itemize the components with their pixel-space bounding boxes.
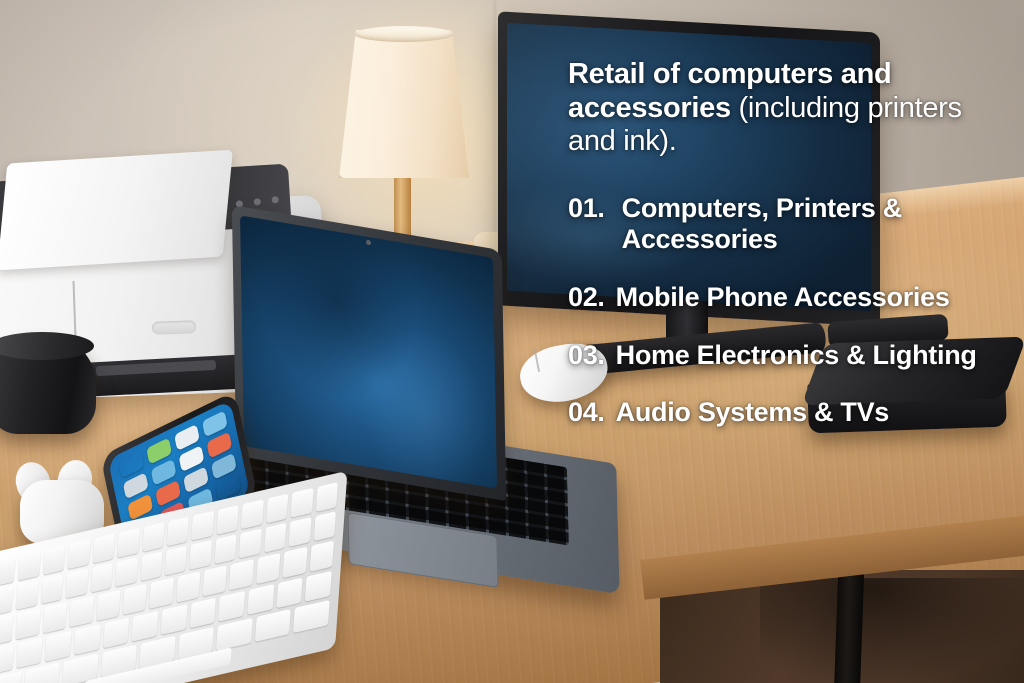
- keyboard-key: [313, 512, 336, 542]
- printer-button-cancel: [271, 196, 278, 203]
- keyboard-key: [117, 528, 140, 558]
- list-item-label: Audio Systems & TVs: [616, 397, 988, 429]
- keyboard-key: [229, 559, 254, 590]
- list-item-label: Computers, Printers & Accessories: [622, 193, 988, 256]
- keyboard-key: [123, 584, 148, 615]
- laptop-screen: [240, 215, 497, 488]
- keyboard-key: [45, 630, 72, 661]
- lamp-shade-top: [354, 26, 454, 42]
- keyboard-key: [256, 553, 281, 584]
- keyboard-key: [176, 572, 201, 603]
- list-item-number: 03.: [568, 340, 605, 372]
- keyboard-key: [132, 610, 159, 641]
- keyboard-key: [0, 671, 21, 683]
- keyboard-key: [161, 604, 188, 635]
- keyboard-key: [239, 529, 262, 559]
- keyboard-key: [16, 637, 43, 668]
- slide-headline: Retail of computers and accessories (inc…: [568, 58, 988, 159]
- keyboard-key: [43, 603, 68, 634]
- printer-button-copy: [254, 198, 261, 205]
- list-item: 03. Home Electronics & Lighting: [568, 340, 988, 372]
- keyboard-key: [103, 617, 130, 648]
- keyboard-key: [69, 596, 94, 627]
- list-item-number: 01.: [568, 193, 605, 256]
- keyboard-key: [218, 590, 245, 621]
- keyboard-key: [92, 534, 115, 564]
- keyboard-key: [214, 534, 237, 564]
- list-item-number: 04.: [568, 397, 605, 429]
- lamp-shade: [339, 30, 469, 178]
- slide-scene: Retail of computers and accessories (inc…: [0, 0, 1024, 683]
- list-item-number: 02.: [568, 282, 605, 314]
- keyboard-key: [291, 488, 314, 518]
- category-list: 01. Computers, Printers & Accessories 02…: [568, 193, 988, 429]
- keyboard-key: [90, 563, 113, 593]
- keyboard-key: [0, 615, 14, 646]
- keyboard-key: [115, 557, 138, 587]
- list-item-label: Mobile Phone Accessories: [616, 282, 988, 314]
- keyboard-key: [142, 522, 165, 552]
- keyboard-key: [149, 578, 174, 609]
- desk-leg: [834, 574, 864, 683]
- keyboard-key: [264, 523, 287, 553]
- keyboard-key: [266, 494, 289, 524]
- keyboard-key: [74, 624, 101, 655]
- keyboard-key: [203, 566, 228, 597]
- keyboard-key: [167, 516, 190, 546]
- keyboard-key: [43, 545, 66, 575]
- keyboard-key: [276, 577, 303, 608]
- keyboard-key: [0, 644, 14, 675]
- keyboard-key: [283, 547, 308, 578]
- keyboard-key: [289, 517, 312, 547]
- list-item-label: Home Electronics & Lighting: [616, 340, 988, 372]
- laptop-webcam: [366, 240, 371, 246]
- list-item: 04. Audio Systems & TVs: [568, 397, 988, 429]
- keyboard-key: [309, 541, 334, 572]
- keyboard-key: [216, 505, 239, 535]
- keyboard-key: [16, 609, 41, 640]
- keyboard-key: [247, 584, 274, 615]
- keyboard-key: [41, 574, 64, 604]
- keyboard-key: [0, 586, 14, 616]
- keyboard-key: [18, 551, 41, 581]
- printer-door-handle: [152, 320, 196, 335]
- keyboard-key: [165, 546, 188, 576]
- keyboard-key: [68, 539, 91, 569]
- list-item: 02. Mobile Phone Accessories: [568, 282, 988, 314]
- keyboard-key: [189, 597, 216, 628]
- slide-text-overlay: Retail of computers and accessories (inc…: [568, 58, 988, 455]
- printer-scanner-lid: [0, 150, 233, 271]
- keyboard-key: [16, 580, 39, 610]
- keyboard-key: [0, 556, 16, 586]
- keyboard-key: [189, 540, 212, 570]
- under-desk-shadow: [760, 578, 1024, 683]
- keyboard-key: [305, 570, 332, 601]
- keyboard-key: [191, 511, 214, 541]
- keyboard-key: [96, 590, 121, 621]
- keyboard-key: [241, 499, 264, 529]
- keyboard-key: [66, 569, 89, 599]
- list-item: 01. Computers, Printers & Accessories: [568, 193, 988, 256]
- keyboard-key: [315, 482, 338, 512]
- keyboard-key: [24, 662, 60, 683]
- keyboard-key: [140, 552, 163, 582]
